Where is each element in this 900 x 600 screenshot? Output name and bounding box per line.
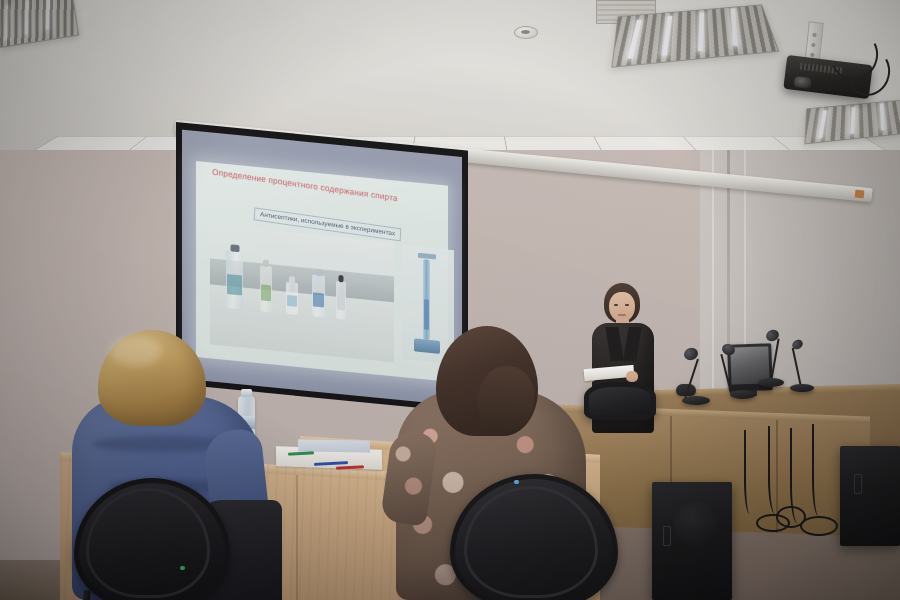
slide-photo-burette [402,245,454,364]
slide-spray-bottle-green [260,265,272,312]
projector-lens [794,76,812,89]
slide-small-bottle-white [286,282,298,315]
slide-dropper-bottle-dark [336,281,346,320]
bottle-label [287,295,297,307]
floor-cable [768,426,786,514]
cable-coil [800,516,838,536]
pa-speaker-left [652,482,732,600]
bottle-cap [339,275,344,282]
bottle-label [337,297,345,311]
ceiling-tile [593,137,699,150]
floor-cable [744,430,758,514]
presenter-face [609,292,635,322]
floor-cable [812,424,828,516]
ceiling-tile [504,137,604,150]
slide-pump-dispenser-bottle [226,250,243,310]
bottle-cap [289,276,295,284]
bottle-cap [315,269,322,277]
conference-room-photo: Определение процентного содержания спирт… [0,0,900,600]
slide-spray-bottle-blue [312,274,325,317]
smoke-detector [514,26,538,39]
bottle-cap [263,260,269,268]
bottle-cap [230,244,239,252]
cable-coil [756,514,790,532]
projection-screen: Определение процентного содержания спирт… [176,122,468,413]
screen-surface: Определение процентного содержания спирт… [182,130,462,406]
slide-title: Определение процентного содержания спирт… [212,168,434,209]
slide-photo-antiseptics [210,224,394,362]
screen-end-cap [855,190,865,199]
bottle-label [227,274,241,295]
bottle-label [313,292,324,307]
projected-slide: Определение процентного содержания спирт… [196,161,448,382]
bottle-label [261,284,271,301]
presenter-hand-right [626,371,638,382]
pa-speaker-right [840,446,900,546]
